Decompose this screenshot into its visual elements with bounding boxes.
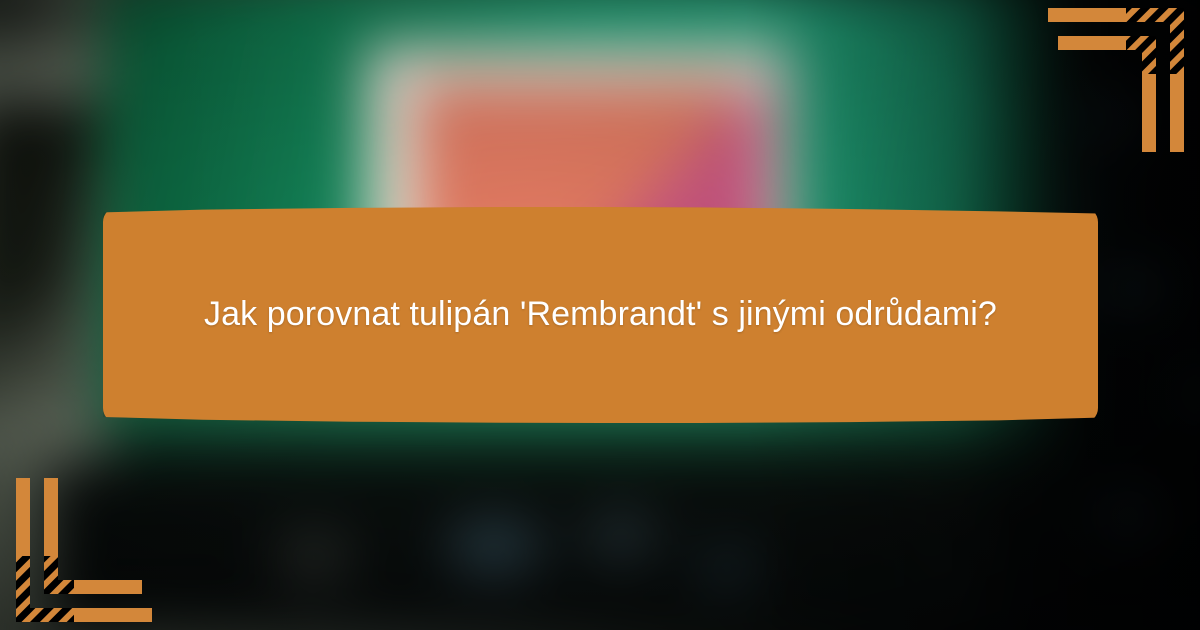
question-banner: Jak porovnat tulipán 'Rembrandt' s jiným… <box>103 207 1098 423</box>
question-text: Jak porovnat tulipán 'Rembrandt' s jiným… <box>144 288 1057 342</box>
quote-card: Jak porovnat tulipán 'Rembrandt' s jiným… <box>0 0 1200 630</box>
